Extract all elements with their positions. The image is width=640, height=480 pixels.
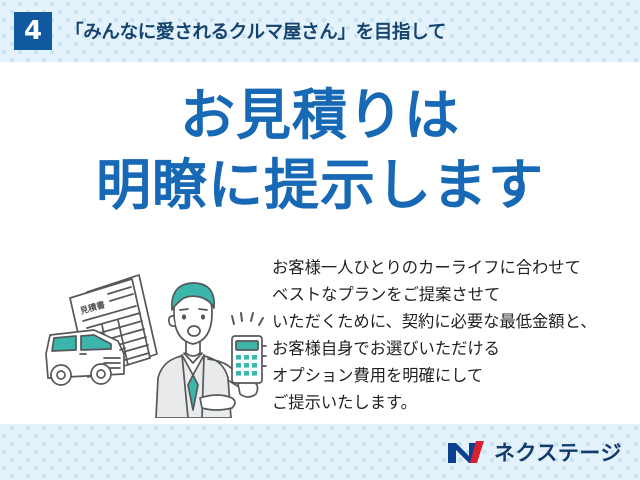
footer-bar: ネクステージ xyxy=(0,424,640,480)
section-number-badge: 4 xyxy=(14,12,52,50)
body-line-2: ベストなプランをご提案させて xyxy=(272,281,597,308)
headline: お見積りは 明瞭に提示します xyxy=(0,80,640,221)
van-illustration xyxy=(46,330,125,385)
body-line-5: オプション費用を明確にして xyxy=(272,362,597,389)
header-title: 「みんなに愛されるクルマ屋さん」を目指して xyxy=(65,18,446,44)
promotional-banner: 4 「みんなに愛されるクルマ屋さん」を目指して お見積りは 明瞭に提示します お… xyxy=(0,0,640,480)
salesman-with-calculator-and-estimate-illustration: 見積書 xyxy=(32,258,272,418)
calculator-icon xyxy=(232,336,266,383)
body-line-4: お客様自身でお選びいただける xyxy=(272,335,597,362)
nextage-logo-text: ネクステージ xyxy=(494,437,622,467)
headline-line-1: お見積りは xyxy=(0,80,640,150)
body-line-1: お客様一人ひとりのカーライフに合わせて xyxy=(272,254,597,281)
header-bar: 4 「みんなに愛されるクルマ屋さん」を目指して xyxy=(0,0,640,62)
body-copy: お客様一人ひとりのカーライフに合わせて ベストなプランをご提案させて いただくた… xyxy=(272,254,597,416)
body-line-3: いただくために、契約に必要な最低金額と、 xyxy=(272,308,597,335)
content-panel: お見積りは 明瞭に提示します お客様一人ひとりのカーライフに合わせて ベストなプ… xyxy=(0,62,640,424)
sparkle-icon xyxy=(232,313,263,325)
nextage-logo: ネクステージ xyxy=(446,437,622,467)
headline-line-2: 明瞭に提示します xyxy=(0,150,640,220)
nextage-n-logo xyxy=(446,439,486,465)
body-line-6: ご提示いたします。 xyxy=(272,389,597,416)
